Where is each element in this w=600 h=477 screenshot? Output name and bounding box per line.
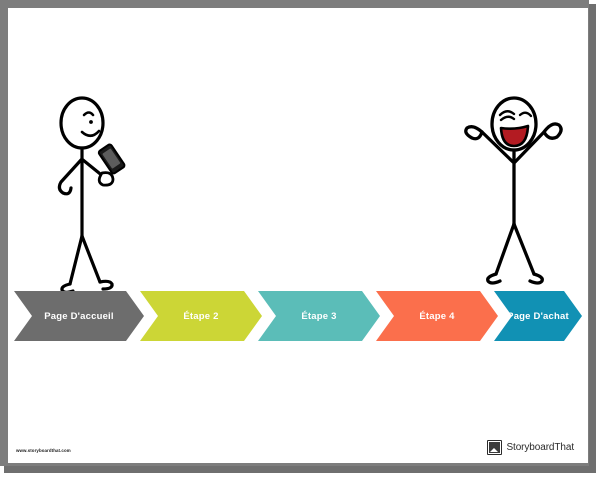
chevron-shape — [376, 291, 498, 341]
picture-icon — [487, 440, 502, 455]
chevron-shape — [494, 291, 588, 341]
chevron-step-4[interactable]: Étape 4 — [376, 291, 498, 341]
chevron-shape — [258, 291, 380, 341]
chevron-step-5[interactable]: Page D'achat — [494, 291, 588, 341]
chevron-shape — [140, 291, 262, 341]
footer-url[interactable]: www.storyboardthat.com — [16, 448, 71, 453]
storyboard-panel: Page D'accueil Étape 2 Étape 3 Étape 4 — [0, 0, 600, 477]
chevron-step-2[interactable]: Étape 2 — [140, 291, 262, 341]
chevron-process-flow: Page D'accueil Étape 2 Étape 3 Étape 4 — [14, 291, 582, 341]
chevron-shape — [14, 291, 144, 341]
storyboardthat-logo[interactable]: StoryboardThat — [487, 440, 574, 455]
smartphone-icon — [98, 144, 126, 175]
stick-figure-celebrating — [450, 84, 580, 299]
mouth — [501, 126, 528, 146]
stick-figure-with-phone — [44, 94, 164, 299]
chevron-step-3[interactable]: Étape 3 — [258, 291, 380, 341]
hand — [99, 173, 113, 186]
brand-name: StoryboardThat — [506, 442, 574, 453]
panel-canvas: Page D'accueil Étape 2 Étape 3 Étape 4 — [8, 8, 588, 463]
chevron-step-1[interactable]: Page D'accueil — [14, 291, 144, 341]
